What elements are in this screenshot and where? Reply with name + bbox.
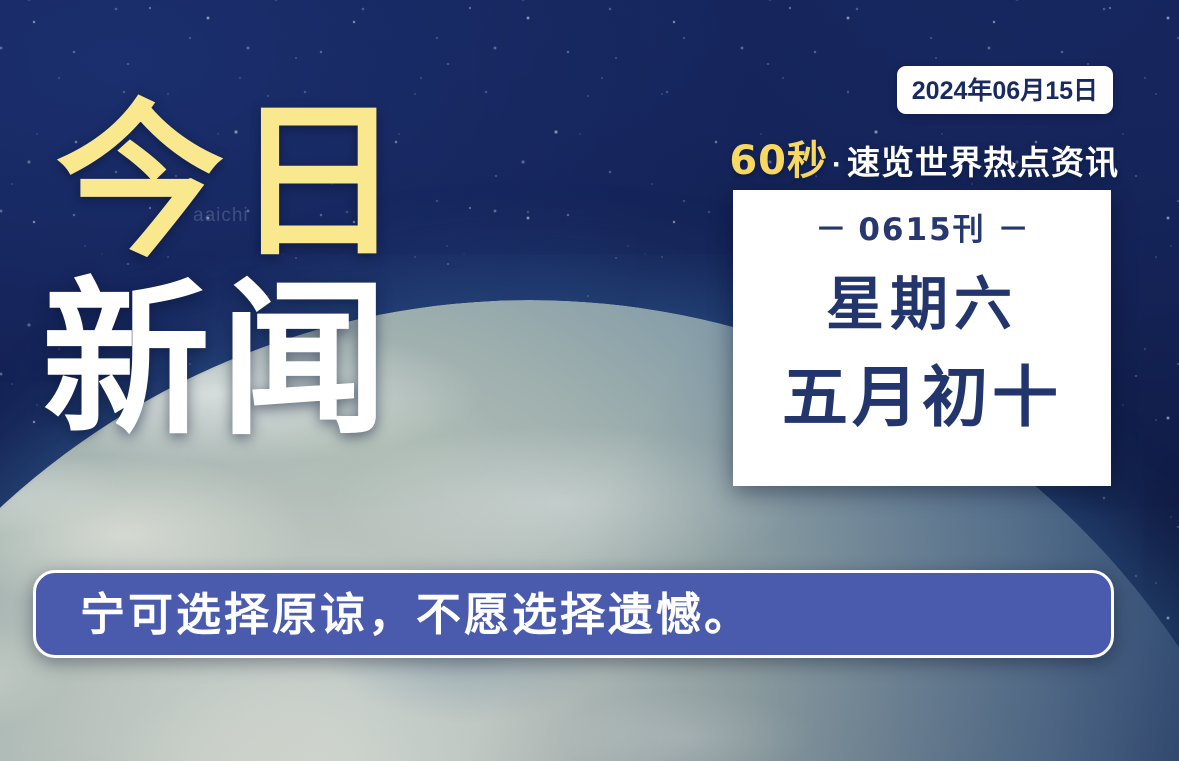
- issue-dash-left: －: [803, 212, 858, 248]
- date-info-card: －0615刊－ 星期六 五月初十: [733, 190, 1111, 486]
- tagline-seconds: 60秒: [729, 138, 828, 184]
- date-badge: 2024年06月15日: [897, 66, 1113, 114]
- issue-number: 0615刊: [858, 212, 985, 248]
- tagline-separator-dot: ·: [828, 148, 847, 181]
- tagline-description: 速览世界热点资讯: [847, 144, 1119, 181]
- lunar-date-label: 五月初十: [782, 365, 1062, 431]
- quote-text: 宁可选择原谅，不愿选择遗憾。: [36, 592, 752, 637]
- tagline: 60秒·速览世界热点资讯: [729, 141, 1119, 181]
- title-line-today: 今日: [56, 98, 412, 266]
- news-poster: aaichi 今日 新闻 2024年06月15日 60秒·速览世界热点资讯 －0…: [0, 0, 1179, 761]
- title-line-news: 新闻: [42, 276, 412, 444]
- issue-dash-right: －: [986, 212, 1041, 248]
- issue-line: －0615刊－: [803, 204, 1040, 249]
- page-title: 今日 新闻: [56, 98, 412, 444]
- quote-banner: 宁可选择原谅，不愿选择遗憾。: [33, 570, 1114, 658]
- weekday-label: 星期六: [826, 275, 1018, 333]
